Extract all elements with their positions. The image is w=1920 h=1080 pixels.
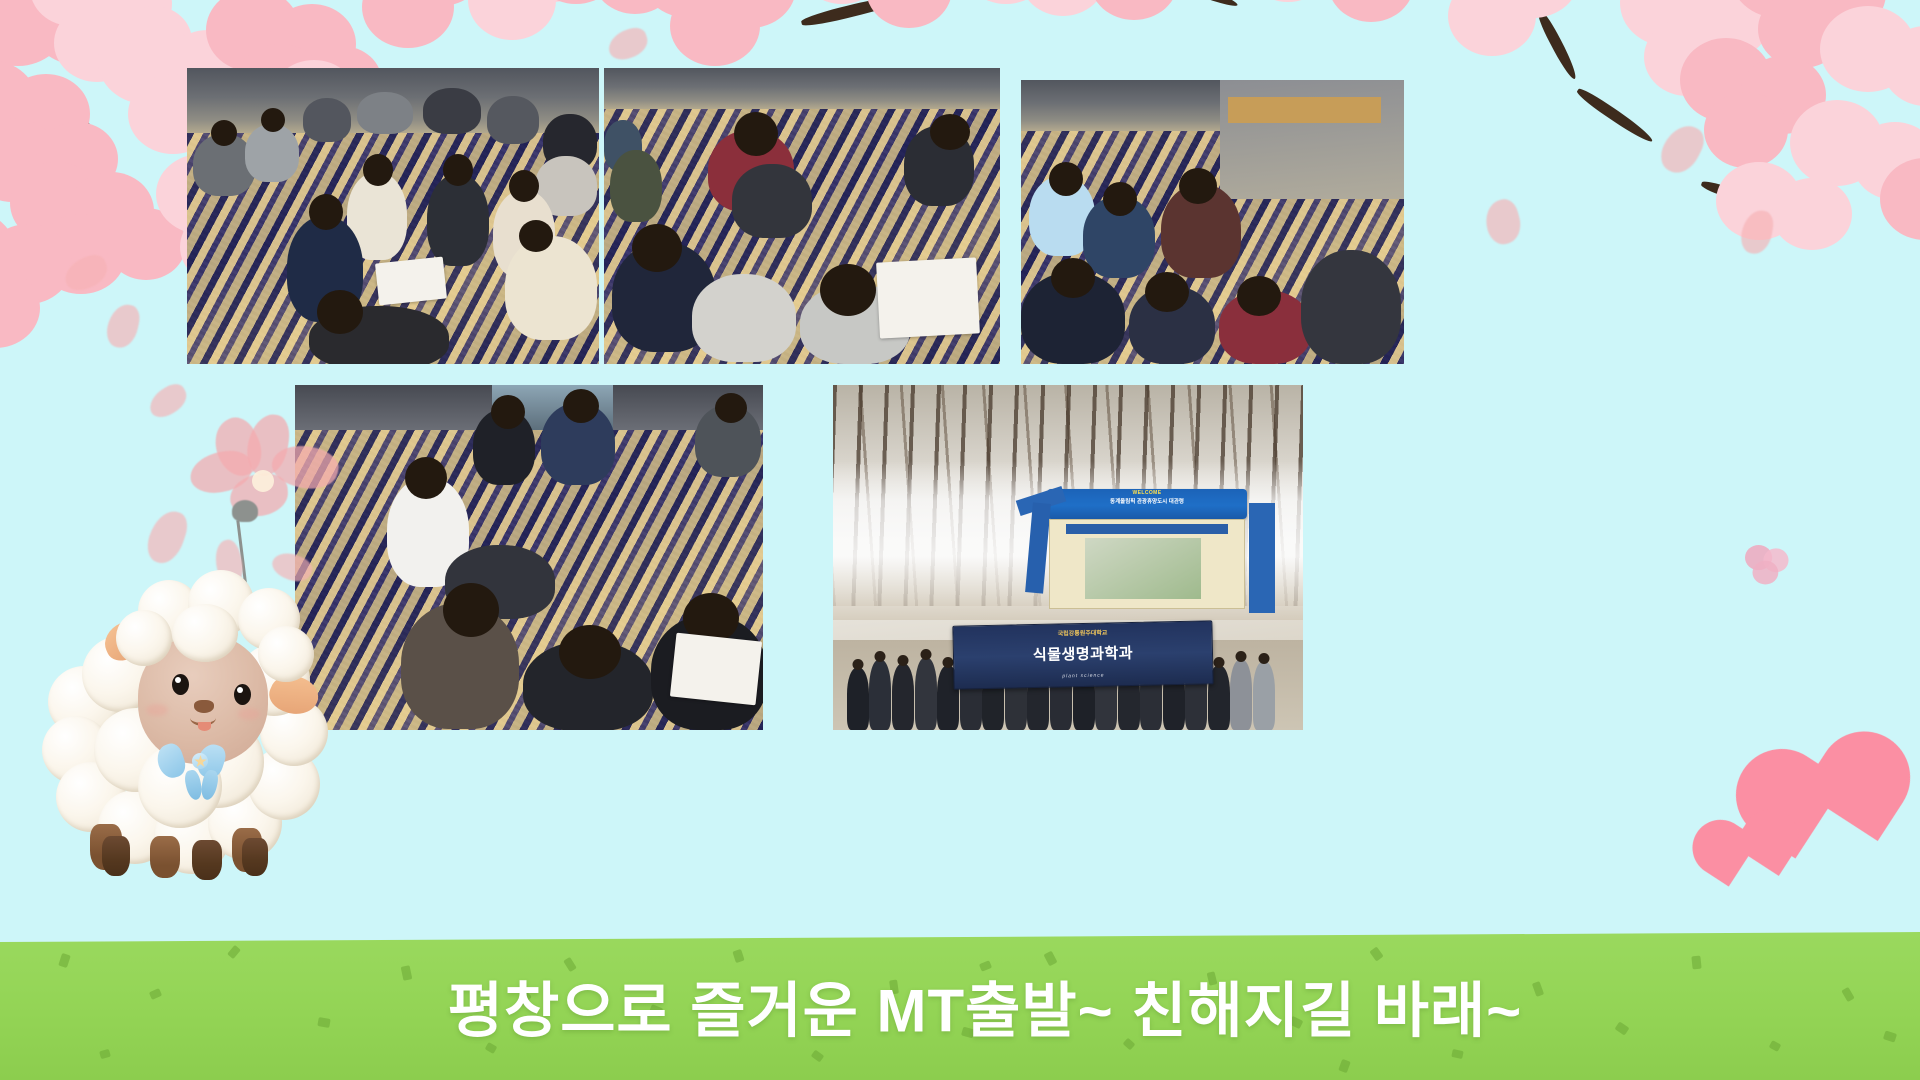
sheep-blush-left xyxy=(146,704,168,716)
person-figure xyxy=(1301,250,1401,364)
sheep-tongue xyxy=(198,722,211,731)
flower-calyx xyxy=(232,500,258,522)
person-head xyxy=(632,224,682,272)
photo-department-group-photo-daegwallyeong[interactable]: WELCOME 동계올림픽 관광휴양도시 대관령 xyxy=(833,385,1303,730)
sheep-hoof-mid-left xyxy=(150,836,180,878)
worksheet-paper xyxy=(375,257,447,306)
branch-twig xyxy=(1811,143,1863,178)
wool-puff-head xyxy=(172,604,238,662)
welcome-sign: WELCOME 동계올림픽 관광휴양도시 대관령 xyxy=(1047,489,1247,519)
branch-twig xyxy=(221,0,308,8)
person-figure xyxy=(487,96,539,144)
wool-puff-head xyxy=(258,626,314,682)
flower-petal xyxy=(188,448,255,496)
photo-students-lounging-group-activity[interactable] xyxy=(1021,80,1404,364)
falling-petal xyxy=(104,301,142,350)
person-figure xyxy=(732,164,812,238)
sheep-eye-left xyxy=(172,674,189,695)
branch-twig xyxy=(75,113,114,169)
person-figure xyxy=(505,236,597,340)
wool-puff-head xyxy=(116,610,172,666)
person-head xyxy=(261,108,285,132)
pink-heart-large xyxy=(1736,691,1845,800)
person-figure xyxy=(610,150,662,222)
back-wall xyxy=(604,68,1000,109)
flower-center xyxy=(252,470,274,492)
poster-canvas: WELCOME 동계올림픽 관광휴양도시 대관령 xyxy=(0,0,1920,1080)
worksheet-paper xyxy=(670,633,762,706)
person-head xyxy=(519,220,553,252)
branch-twig xyxy=(1161,0,1240,9)
branch-twig xyxy=(1535,10,1580,81)
sheep-hoof-front-right xyxy=(242,838,268,876)
sheep-hoof-front-left xyxy=(102,836,130,876)
wooden-bench xyxy=(1228,97,1381,123)
person-head xyxy=(563,389,599,423)
person-head xyxy=(1103,182,1137,216)
branch-twig xyxy=(1575,86,1656,145)
falling-petal xyxy=(605,25,652,64)
person-head xyxy=(363,154,393,186)
person-head xyxy=(309,194,343,230)
info-board-header xyxy=(1066,524,1229,535)
person-head xyxy=(211,120,237,146)
branch-twig xyxy=(800,0,910,29)
person-head xyxy=(715,393,747,423)
pink-heart-small xyxy=(1693,785,1759,851)
flower-petal xyxy=(244,412,292,479)
person-head xyxy=(443,154,473,186)
person-head xyxy=(405,457,447,499)
person-head xyxy=(317,290,363,334)
photo-students-sitting-carpet-peace-signs[interactable] xyxy=(187,68,599,364)
sheep-mascot xyxy=(42,548,322,878)
person-figure xyxy=(423,88,481,134)
worksheet-paper xyxy=(876,257,980,338)
person-head xyxy=(1237,276,1281,316)
person-head xyxy=(443,583,499,637)
person-figure xyxy=(692,274,796,362)
person-head xyxy=(509,170,539,202)
welcome-sign-english: WELCOME xyxy=(1047,490,1247,496)
sheep-blush-right xyxy=(238,708,260,720)
person-head xyxy=(491,395,525,429)
person-figure xyxy=(245,124,299,182)
person-head xyxy=(820,264,876,316)
department-banner: 국립강릉원주대학교 식물생명과학과 plant science xyxy=(952,620,1213,689)
banner-department-english: plant science xyxy=(954,670,1212,681)
person-figure xyxy=(357,92,413,134)
branch-twig xyxy=(0,108,110,144)
page-caption: 평창으로 즐거운 MT출발~ 친해지길 바래~ xyxy=(0,963,1920,1050)
falling-petal xyxy=(1738,208,1775,257)
person-head xyxy=(930,114,970,150)
branch-twig xyxy=(86,178,140,211)
banner-university-name: 국립강릉원주대학교 xyxy=(953,626,1211,640)
flower-petal xyxy=(205,411,271,483)
bow-lobe-left xyxy=(153,741,188,781)
person-figure xyxy=(303,98,351,142)
person-figure xyxy=(427,174,489,266)
photo-students-circle-discussion[interactable] xyxy=(295,385,763,730)
photo-students-drawing-worksheet[interactable] xyxy=(604,68,1000,364)
person-head xyxy=(1051,258,1095,298)
falling-petal xyxy=(144,380,192,423)
banner-department-name: 식물생명과학과 xyxy=(954,640,1212,666)
falling-petal xyxy=(1655,119,1709,180)
sheep-bow xyxy=(158,744,248,804)
sheep-hoof-mid-right xyxy=(192,840,222,880)
sheep-eye-right xyxy=(234,684,251,705)
caption-banner: 평창으로 즐거운 MT출발~ 친해지길 바래~ xyxy=(0,932,1920,1080)
person-head xyxy=(1145,272,1189,312)
person-head xyxy=(734,112,778,156)
falling-petal xyxy=(1481,196,1526,248)
branch-twig xyxy=(1700,179,1760,207)
welcome-sign-korean: 동계올림픽 관광휴양도시 대관령 xyxy=(1047,497,1247,505)
falling-petal xyxy=(60,251,112,295)
person-head xyxy=(1049,162,1083,196)
person-head xyxy=(559,625,621,679)
person-head xyxy=(1179,168,1217,204)
